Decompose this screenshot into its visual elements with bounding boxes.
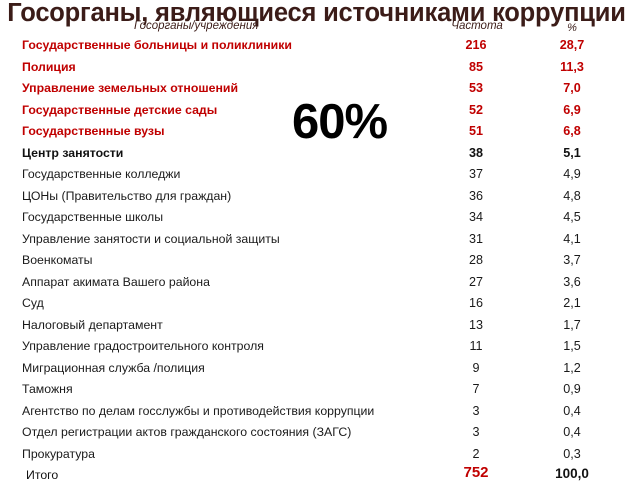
cell-frequency: 13	[440, 317, 512, 333]
cell-institution: Государственные школы	[22, 209, 163, 225]
cell-frequency: 34	[440, 209, 512, 225]
table-row: Военкоматы283,7	[0, 252, 633, 274]
cell-percent: 4,9	[538, 166, 606, 182]
cell-institution: Полиция	[22, 59, 76, 75]
cell-institution: Государственные колледжи	[22, 166, 180, 182]
cell-frequency: 27	[440, 274, 512, 290]
cell-percent: 4,1	[538, 231, 606, 247]
cell-institution: Центр занятости	[22, 145, 123, 161]
page-title: Госорганы, являющиеся источниками корруп…	[0, 0, 633, 27]
cell-institution: Агентство по делам госслужбы и противоде…	[22, 403, 374, 419]
cell-institution: Отдел регистрации актов гражданского сос…	[22, 424, 351, 440]
cell-percent: 0,4	[538, 424, 606, 440]
cell-frequency: 16	[440, 295, 512, 311]
cell-percent: 6,8	[538, 123, 606, 139]
table-row: Государственные больницы и поликлиники21…	[0, 37, 633, 59]
cell-institution: Миграционная служба /полиция	[22, 360, 205, 376]
cell-percent: 0,4	[538, 403, 606, 419]
cell-percent: 5,1	[538, 145, 606, 161]
cell-frequency: 53	[440, 80, 512, 96]
cell-frequency: 38	[440, 145, 512, 161]
table-row: Управление градостроительного контроля11…	[0, 338, 633, 360]
cell-frequency: 51	[440, 123, 512, 139]
cell-institution: Управление градостроительного контроля	[22, 338, 264, 354]
table-row: Таможня70,9	[0, 381, 633, 403]
cell-frequency: 52	[440, 102, 512, 118]
table-row: Отдел регистрации актов гражданского сос…	[0, 424, 633, 446]
slide-canvas: Госорганы, являющиеся источниками корруп…	[0, 0, 633, 481]
cell-frequency: 3	[440, 403, 512, 419]
cell-institution: Управление занятости и социальной защиты	[22, 231, 280, 247]
cell-institution: Управление земельных отношений	[22, 80, 238, 96]
cell-percent: 4,8	[538, 188, 606, 204]
cell-percent: 2,1	[538, 295, 606, 311]
table-row: Аппарат акимата Вашего района273,6	[0, 274, 633, 296]
cell-percent: 0,3	[538, 446, 606, 462]
table-row: ЦОНы (Правительство для граждан)364,8	[0, 188, 633, 210]
cell-frequency: 9	[440, 360, 512, 376]
cell-frequency: 36	[440, 188, 512, 204]
cell-institution: Налоговый департамент	[22, 317, 163, 333]
table-row: Управление занятости и социальной защиты…	[0, 231, 633, 253]
cell-institution: Прокуратура	[22, 446, 95, 462]
table-row: Налоговый департамент131,7	[0, 317, 633, 339]
cell-institution: Итого	[26, 467, 58, 481]
cell-institution: Государственные вузы	[22, 123, 165, 139]
cell-percent: 1,2	[538, 360, 606, 376]
cell-percent: 1,7	[538, 317, 606, 333]
cell-frequency: 11	[440, 338, 512, 354]
cell-institution: ЦОНы (Правительство для граждан)	[22, 188, 231, 204]
column-header-frequency: Частота	[446, 20, 508, 32]
table-row: Государственные школы344,5	[0, 209, 633, 231]
cell-percent: 1,5	[538, 338, 606, 354]
callout-percentage: 60%	[292, 96, 387, 148]
cell-frequency: 216	[440, 37, 512, 53]
cell-frequency: 85	[440, 59, 512, 75]
table-row: Суд162,1	[0, 295, 633, 317]
column-header-institution: Госорганы/учреждения	[134, 20, 258, 32]
cell-percent: 28,7	[538, 37, 606, 53]
cell-frequency: 2	[440, 446, 512, 462]
cell-percent: 100,0	[538, 466, 606, 481]
cell-frequency: 752	[440, 465, 512, 481]
cell-frequency: 3	[440, 424, 512, 440]
table-row: Миграционная служба /полиция91,2	[0, 360, 633, 382]
table-row: Прокуратура20,3	[0, 446, 633, 468]
cell-institution: Аппарат акимата Вашего района	[22, 274, 210, 290]
cell-percent: 3,7	[538, 252, 606, 268]
cell-percent: 4,5	[538, 209, 606, 225]
cell-percent: 0,9	[538, 381, 606, 397]
cell-frequency: 28	[440, 252, 512, 268]
cell-institution: Военкоматы	[22, 252, 93, 268]
column-header-percent: %	[552, 22, 592, 34]
table-row: Агентство по делам госслужбы и противоде…	[0, 403, 633, 425]
cell-percent: 11,3	[538, 59, 606, 75]
table-row: Государственные колледжи374,9	[0, 166, 633, 188]
cell-percent: 6,9	[538, 102, 606, 118]
table-row-total: Итого752100,0	[0, 467, 633, 481]
cell-institution: Таможня	[22, 381, 73, 397]
cell-percent: 7,0	[538, 80, 606, 96]
cell-frequency: 37	[440, 166, 512, 182]
cell-frequency: 7	[440, 381, 512, 397]
cell-institution: Государственные больницы и поликлиники	[22, 37, 292, 53]
cell-percent: 3,6	[538, 274, 606, 290]
table-row: Полиция8511,3	[0, 59, 633, 81]
cell-institution: Государственные детские сады	[22, 102, 217, 118]
cell-frequency: 31	[440, 231, 512, 247]
cell-institution: Суд	[22, 295, 44, 311]
